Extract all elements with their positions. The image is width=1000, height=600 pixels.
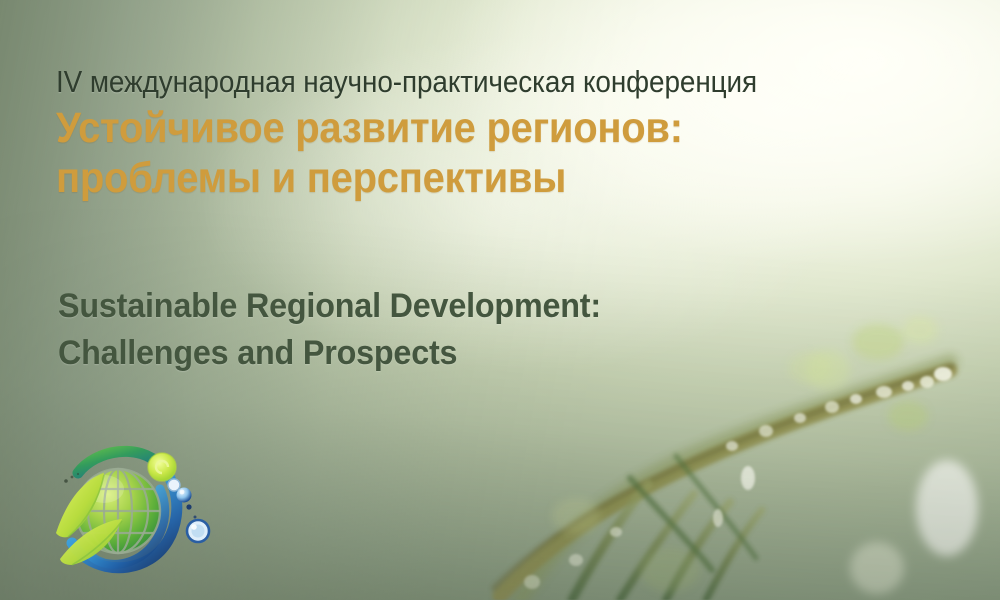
- conference-kicker: IV международная научно-практическая кон…: [56, 62, 866, 102]
- russian-title-block: IV международная научно-практическая кон…: [56, 62, 956, 204]
- eco-globe-logo: [44, 437, 212, 585]
- english-title-block: Sustainable Regional Development: Challe…: [58, 283, 958, 376]
- yellow-sun-spiral-icon: [148, 453, 176, 481]
- russian-title-line-2: проблемы и перспективы: [56, 152, 893, 204]
- conference-banner: IV международная научно-практическая кон…: [0, 0, 1000, 600]
- english-title-line-2: Challenges and Prospects: [58, 330, 913, 376]
- english-title-line-1: Sustainable Regional Development:: [58, 283, 913, 329]
- russian-title-line-1: Устойчивое развитие регионов:: [56, 102, 893, 154]
